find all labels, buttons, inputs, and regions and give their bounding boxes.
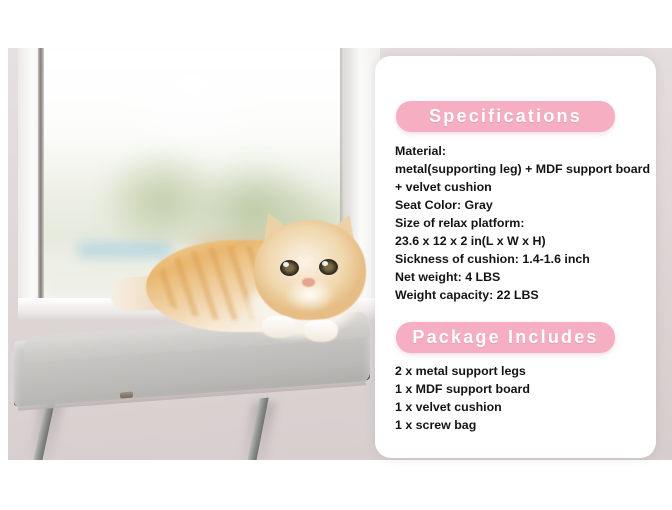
spec-line: + velvet cushion [395, 178, 645, 196]
specifications-heading-text: Specifications [429, 106, 582, 127]
window-mullion [38, 48, 44, 310]
product-info-graphic: Specifications Material: metal(supportin… [0, 0, 672, 510]
cat-nose [302, 278, 315, 287]
spec-line: Weight capacity: 22 LBS [395, 286, 645, 304]
cat-paw-right [304, 320, 338, 342]
package-line: 1 x velvet cushion [395, 398, 645, 416]
spec-line: Seat Color: Gray [395, 196, 645, 214]
package-line: 1 x MDF support board [395, 380, 645, 398]
package-line: 2 x metal support legs [395, 362, 645, 380]
specifications-list: Material: metal(supporting leg) + MDF su… [395, 142, 645, 304]
cat-eye-right [319, 259, 338, 275]
spec-line: 23.6 x 12 x 2 in(L x W x H) [395, 232, 645, 250]
cat [112, 216, 382, 348]
cat-paw-left [262, 316, 296, 338]
screw-fitting [120, 392, 133, 399]
info-card: Specifications Material: metal(supportin… [375, 56, 656, 458]
specifications-heading-pill: Specifications [396, 101, 615, 132]
spec-line: metal(supporting leg) + MDF support boar… [395, 160, 645, 178]
package-includes-heading-pill: Package Includes [396, 322, 615, 353]
package-line: 1 x screw bag [395, 416, 645, 434]
spec-line: Material: [395, 142, 645, 160]
cat-eye-left [280, 260, 299, 276]
package-includes-heading-text: Package Includes [412, 327, 598, 348]
spec-line: Sickness of cushion: 1.4-1.6 inch [395, 250, 645, 268]
spec-line: Size of relax platform: [395, 214, 645, 232]
spec-line: Net weight: 4 LBS [395, 268, 645, 286]
package-includes-list: 2 x metal support legs 1 x MDF support b… [395, 362, 645, 434]
